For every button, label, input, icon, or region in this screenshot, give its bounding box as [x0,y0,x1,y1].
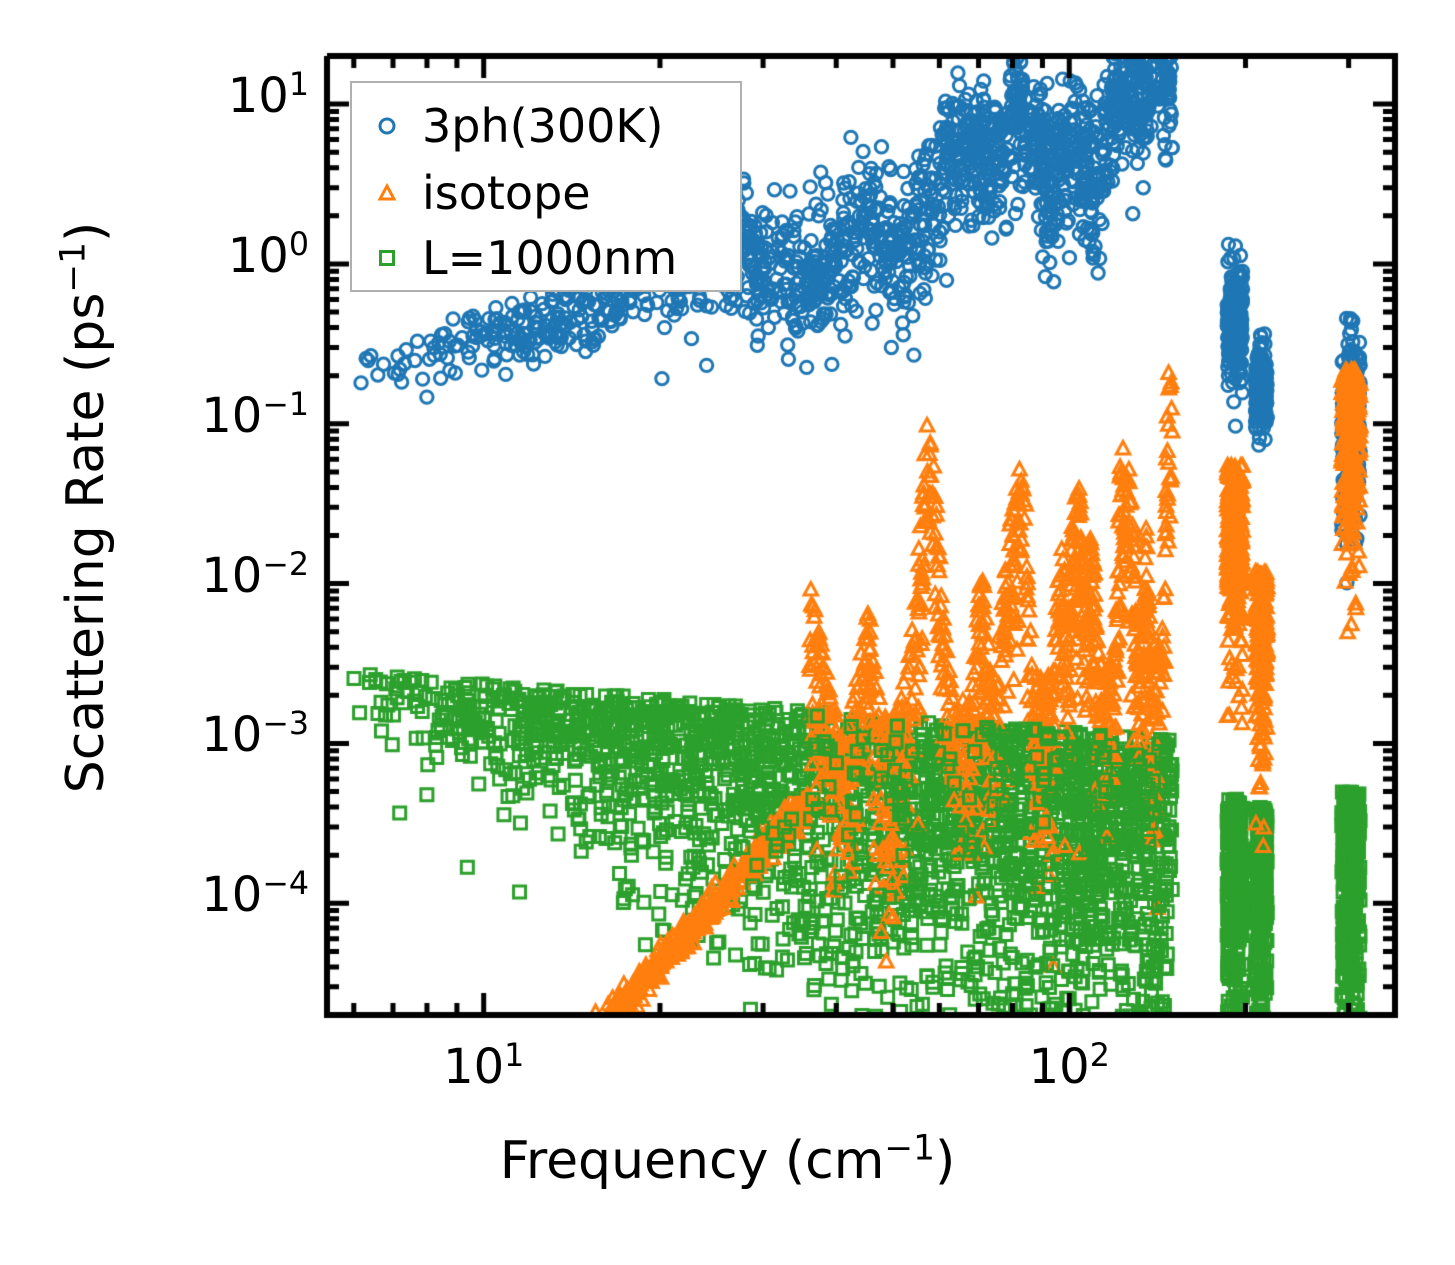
y-axis-title: Scattering Rate (ps−1) [60,0,112,1015]
y-tick-label: 10−2 [49,552,309,600]
triangle-marker-icon [352,180,422,206]
legend-label-isotope: isotope [422,166,591,220]
legend-item-3ph: 3ph(300K) [352,91,740,161]
x-axis-title-tail: ) [935,1131,955,1191]
legend-box: 3ph(300K) isotope L=1000nm [350,81,742,292]
legend-label-boundary: L=1000nm [422,231,677,285]
y-axis-title-wrapper: Scattering Rate (ps−1) [60,0,180,1015]
x-tick-label: 102 [949,1043,1189,1091]
y-tick-label: 10−1 [49,392,309,440]
y-tick-label: 100 [49,232,309,280]
x-axis-title-text: Frequency (cm [500,1131,885,1191]
legend-item-isotope: isotope [352,158,740,228]
square-marker-icon [352,245,422,271]
y-tick-label: 10−3 [49,711,309,759]
scatter-plot-figure: Scattering Rate (ps−1) Frequency (cm−1) … [0,0,1455,1265]
y-tick-label: 101 [49,72,309,120]
legend-label-3ph: 3ph(300K) [422,99,663,153]
x-axis-title-exponent: −1 [884,1129,935,1169]
legend-item-boundary: L=1000nm [352,223,740,293]
x-axis-title: Frequency (cm−1) [0,1135,1455,1187]
circle-marker-icon [352,113,422,139]
x-tick-label: 101 [364,1043,604,1091]
y-tick-label: 10−4 [49,871,309,919]
